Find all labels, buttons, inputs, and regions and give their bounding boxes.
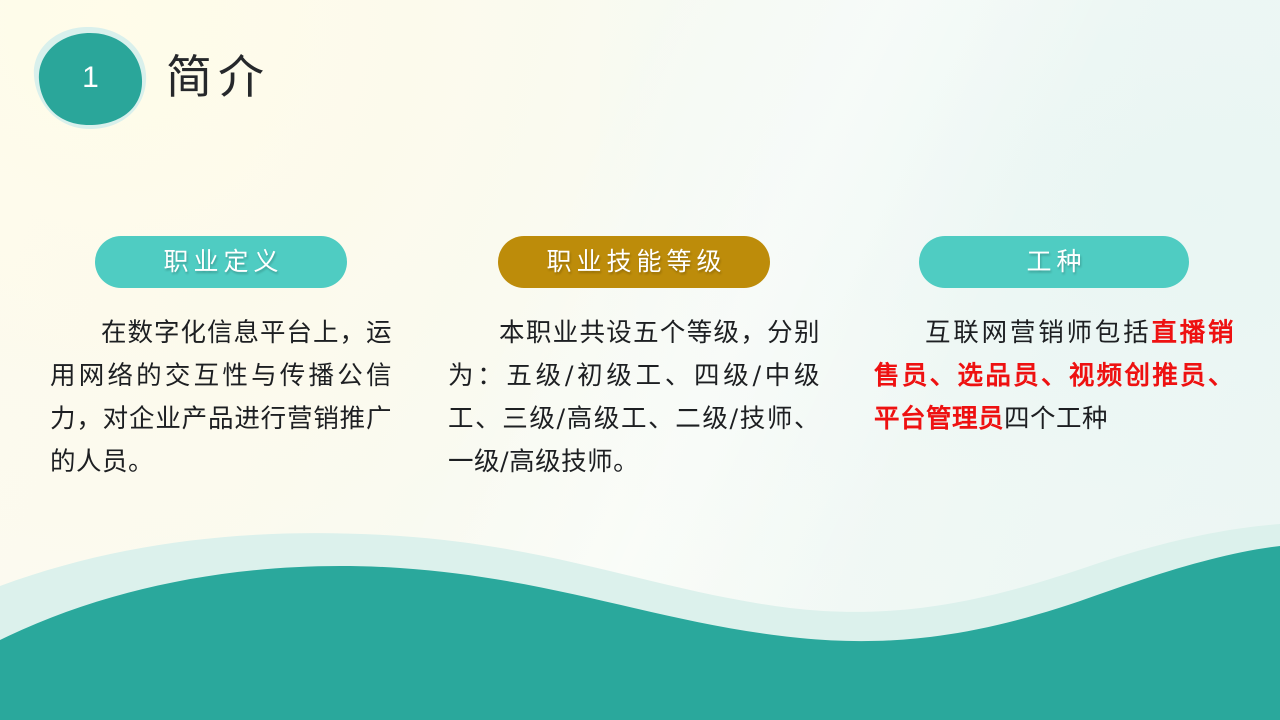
slide-header: 1 简介	[0, 0, 1280, 160]
bottom-wave-decoration	[0, 520, 1280, 720]
column-body-skill-levels: 本职业共设五个等级，分别为：五级/初级工、四级/中级工、三级/高级工、二级/技师…	[448, 312, 820, 484]
body-segment: 互联网营销师包括	[925, 318, 1151, 348]
page-title: 简介	[166, 46, 270, 108]
badge-blob-shape	[39, 33, 142, 125]
body-segment: 本职业共设五个等级，分别为：五级/初级工、四级/中级工、三级/高级工、二级/技师…	[448, 318, 820, 477]
slide-canvas: 1 简介 职业定义 在数字化信息平台上，运用网络的交互性与传播公信力，对企业产品…	[0, 0, 1280, 720]
column-header-pill-definition[interactable]: 职业定义	[95, 236, 347, 288]
column-body-job-types: 互联网营销师包括直播销售员、选品员、视频创推员、平台管理员四个工种	[874, 312, 1234, 441]
column-body-definition: 在数字化信息平台上，运用网络的交互性与传播公信力，对企业产品进行营销推广的人员。	[50, 312, 392, 484]
section-number-badge: 1	[24, 24, 152, 132]
body-segment: 在数字化信息平台上，运用网络的交互性与传播公信力，对企业产品进行营销推广的人员。	[50, 318, 392, 477]
column-header-pill-job-types[interactable]: 工种	[919, 236, 1189, 288]
column-header-pill-skill-levels[interactable]: 职业技能等级	[498, 236, 770, 288]
body-segment: 四个工种	[1004, 404, 1108, 434]
